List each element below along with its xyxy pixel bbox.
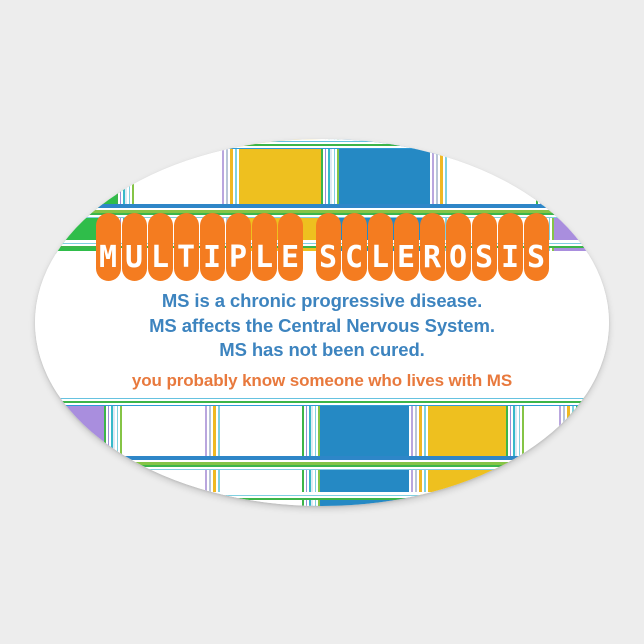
plaid-block-white (113, 396, 213, 506)
body-line-3: MS has not been cured. (35, 338, 609, 363)
title-pill-i: I (200, 213, 225, 281)
title-pill-e: E (394, 213, 419, 281)
plaid-vstripes (301, 396, 320, 506)
sticker-body-copy: MS is a chronic progressive disease. MS … (35, 289, 609, 392)
body-line-2: MS affects the Central Nervous System. (35, 314, 609, 339)
plaid-vstripes (505, 396, 524, 506)
title-pill-s: S (524, 213, 549, 281)
plaid-block-purple (35, 396, 113, 506)
title-pill-u: U (122, 213, 147, 281)
plaid-blocks-bottom (35, 396, 609, 506)
sticker-title: MULTIPLESCLEROSIS (35, 213, 609, 281)
title-pill-c: C (342, 213, 367, 281)
plaid-vstripes (599, 396, 609, 506)
body-line-1: MS is a chronic progressive disease. (35, 289, 609, 314)
plaid-block-white (213, 396, 311, 506)
title-pill-l: L (148, 213, 173, 281)
title-pill-l: L (368, 213, 393, 281)
plaid-vstripes (557, 396, 576, 506)
plaid-vstripes (203, 396, 222, 506)
plaid-band-bottom (35, 396, 609, 506)
title-pill-p: P (226, 213, 251, 281)
title-pill-m: M (96, 213, 121, 281)
title-pill-r: R (420, 213, 445, 281)
plaid-block-gold (419, 396, 515, 506)
title-pill-s: S (472, 213, 497, 281)
title-pill-s: S (316, 213, 341, 281)
title-pill-l: L (252, 213, 277, 281)
tagline: you probably know someone who lives with… (35, 370, 609, 393)
plaid-block-blue (311, 396, 419, 506)
oval-sticker[interactable]: MULTIPLESCLEROSIS MS is a chronic progre… (35, 139, 609, 506)
title-pill-t: T (174, 213, 199, 281)
title-pill-o: O (446, 213, 471, 281)
plaid-vstripes (103, 396, 122, 506)
title-pill-e: E (278, 213, 303, 281)
sticker-canvas: MULTIPLESCLEROSIS MS is a chronic progre… (0, 0, 644, 644)
title-pill-space (304, 213, 315, 281)
title-pill-i: I (498, 213, 523, 281)
plaid-vstripes (409, 396, 428, 506)
